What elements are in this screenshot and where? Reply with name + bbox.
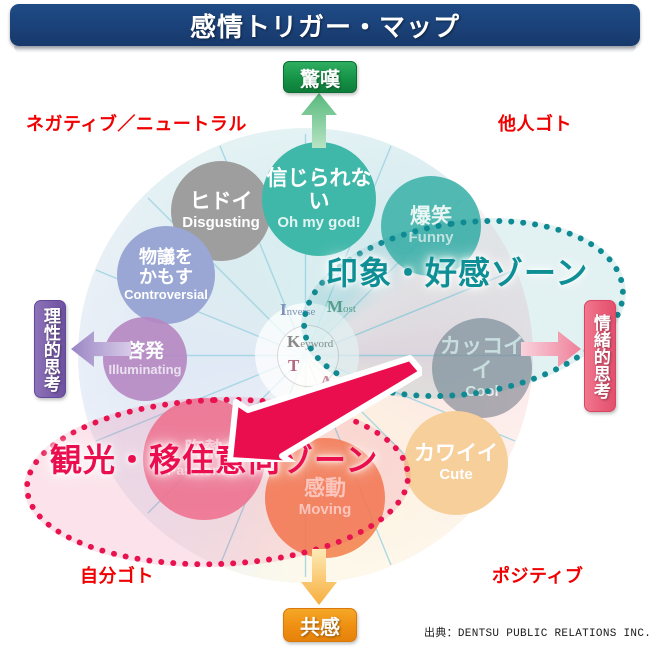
page-title: 感情トリガー・マップ <box>190 7 460 44</box>
bubble-label-ja: ヒドイ <box>190 190 253 214</box>
axis-arrow-right-icon <box>520 330 582 368</box>
bubble-label-ja: 信じられない <box>262 167 376 214</box>
zone-label-impression: 印象・好感ゾーン <box>326 248 588 294</box>
zone-transition-arrow <box>222 352 422 462</box>
axis-badge-top[interactable]: 驚嘆 <box>283 61 357 93</box>
axis-badge-right[interactable]: 情緒的思考 <box>584 300 616 412</box>
emotion-trigger-map: 感情トリガー・マップ ネガティブ／ニュートラル 他人ゴト 自分ゴト ポジティブ <box>0 0 650 650</box>
bubble-label-en: Controversial <box>124 288 208 303</box>
axis-badge-bottom[interactable]: 共感 <box>283 608 357 642</box>
bubble-controversial[interactable]: 物議を かもす Controversial <box>117 226 215 324</box>
title-bar-shadow <box>14 46 636 53</box>
title-bar: 感情トリガー・マップ <box>10 4 640 46</box>
bubble-label-ja-line2: かもす <box>139 267 193 287</box>
axis-badge-left[interactable]: 理性的思考 <box>34 300 66 398</box>
hub-initial-i: I <box>280 300 287 319</box>
axis-arrow-up-icon <box>300 92 338 148</box>
bubble-label-ja: カワイイ <box>414 442 498 466</box>
bubble-oh-my-god[interactable]: 信じられない Oh my god! <box>262 142 376 256</box>
source-credit: 出典：DENTSU PUBLIC RELATIONS INC. <box>424 624 650 640</box>
axis-arrow-left-icon <box>70 330 132 368</box>
bubble-label-ja-line1: 物議を <box>139 247 193 267</box>
bubble-label-en: Oh my god! <box>277 215 360 232</box>
hub-initial-k: K <box>287 332 300 351</box>
bubble-label-en: Cute <box>439 467 472 484</box>
axis-arrow-down-icon <box>300 548 338 606</box>
bubble-label-en: Disgusting <box>182 215 260 232</box>
